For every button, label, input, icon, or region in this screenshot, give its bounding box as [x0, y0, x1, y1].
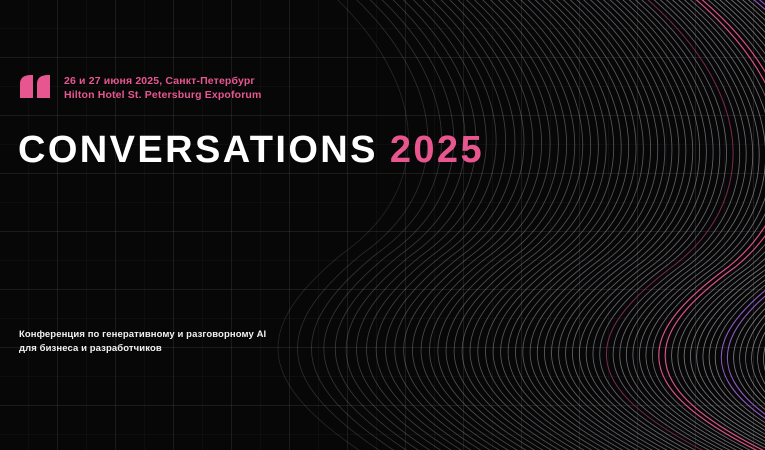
headline-main: CONVERSATIONS: [18, 129, 378, 171]
tagline-line-2: для бизнеса и разработчиков: [19, 343, 266, 355]
event-details: 26 и 27 июня 2025, Санкт-Петербург Hilto…: [20, 74, 261, 103]
quote-mark-icon: [20, 75, 50, 103]
event-banner: 26 и 27 июня 2025, Санкт-Петербург Hilto…: [0, 0, 765, 450]
banner-content: 26 и 27 июня 2025, Санкт-Петербург Hilto…: [0, 0, 765, 450]
event-venue: Hilton Hotel St. Petersburg Expoforum: [64, 89, 261, 101]
event-details-lines: 26 и 27 июня 2025, Санкт-Петербург Hilto…: [64, 74, 261, 101]
event-date-location: 26 и 27 июня 2025, Санкт-Петербург: [64, 75, 261, 87]
headline-year: 2025: [390, 129, 484, 171]
tagline-line-1: Конференция по генеративному и разговорн…: [19, 329, 266, 341]
event-tagline: Конференция по генеративному и разговорн…: [19, 329, 266, 355]
page-title: CONVERSATIONS2025: [18, 130, 484, 170]
